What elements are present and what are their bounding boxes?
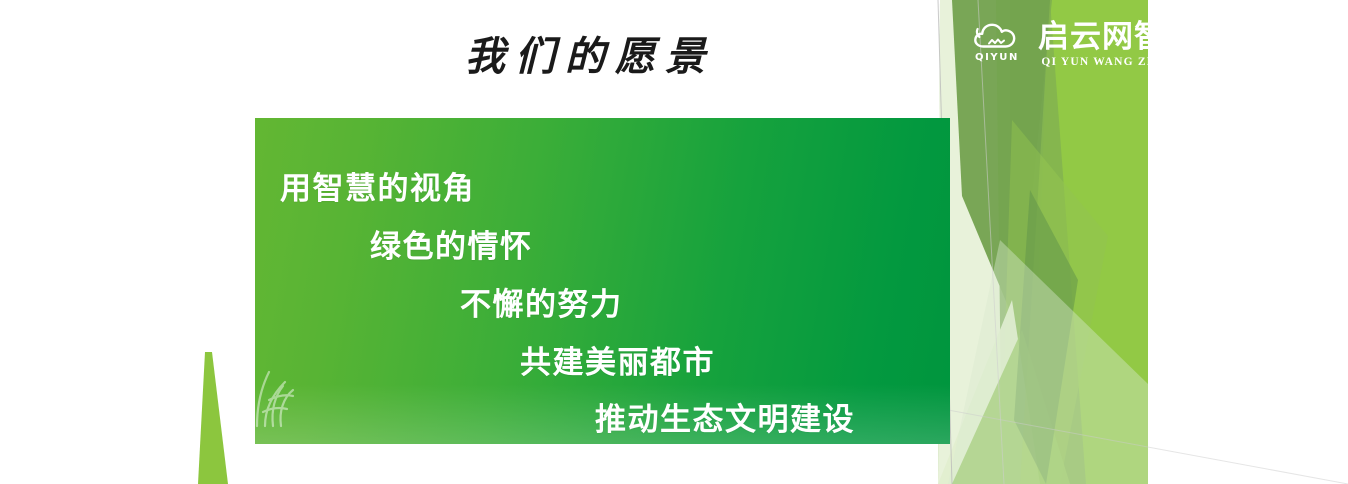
logo-wordmark-group: 启云网智 QI YUN WANG ZHI <box>1038 20 1166 68</box>
logo-wordmark: 启云网智 <box>1038 21 1166 54</box>
brand-logo: QIYUN 启云网智 QI YUN WANG ZHI <box>968 20 1166 68</box>
logo-pinyin: QI YUN WANG ZHI <box>1041 57 1162 69</box>
vision-line-1: 用智慧的视角 <box>280 163 475 208</box>
vision-line-2: 绿色的情怀 <box>370 221 533 266</box>
vision-line-5: 推动生态文明建设 <box>595 394 855 439</box>
vision-line-4: 共建美丽都市 <box>520 337 715 382</box>
vision-line-list: 用智慧的视角 绿色的情怀 不懈的努力 共建美丽都市 推动生态文明建设 <box>255 118 950 444</box>
logo-mark-caption: QIYUN <box>975 53 1019 63</box>
vision-line-3: 不懈的努力 <box>460 279 623 324</box>
logo-mark: QIYUN <box>968 20 1026 63</box>
cloud-icon <box>973 22 1021 52</box>
vision-panel: 用智慧的视角 绿色的情怀 不懈的努力 共建美丽都市 推动生态文明建设 <box>255 118 950 444</box>
slide-canvas: 我们的愿景 用智慧的视角 绿色的情怀 不懈的努力 共建美丽都市 推动生态文明建设 <box>0 0 1348 484</box>
